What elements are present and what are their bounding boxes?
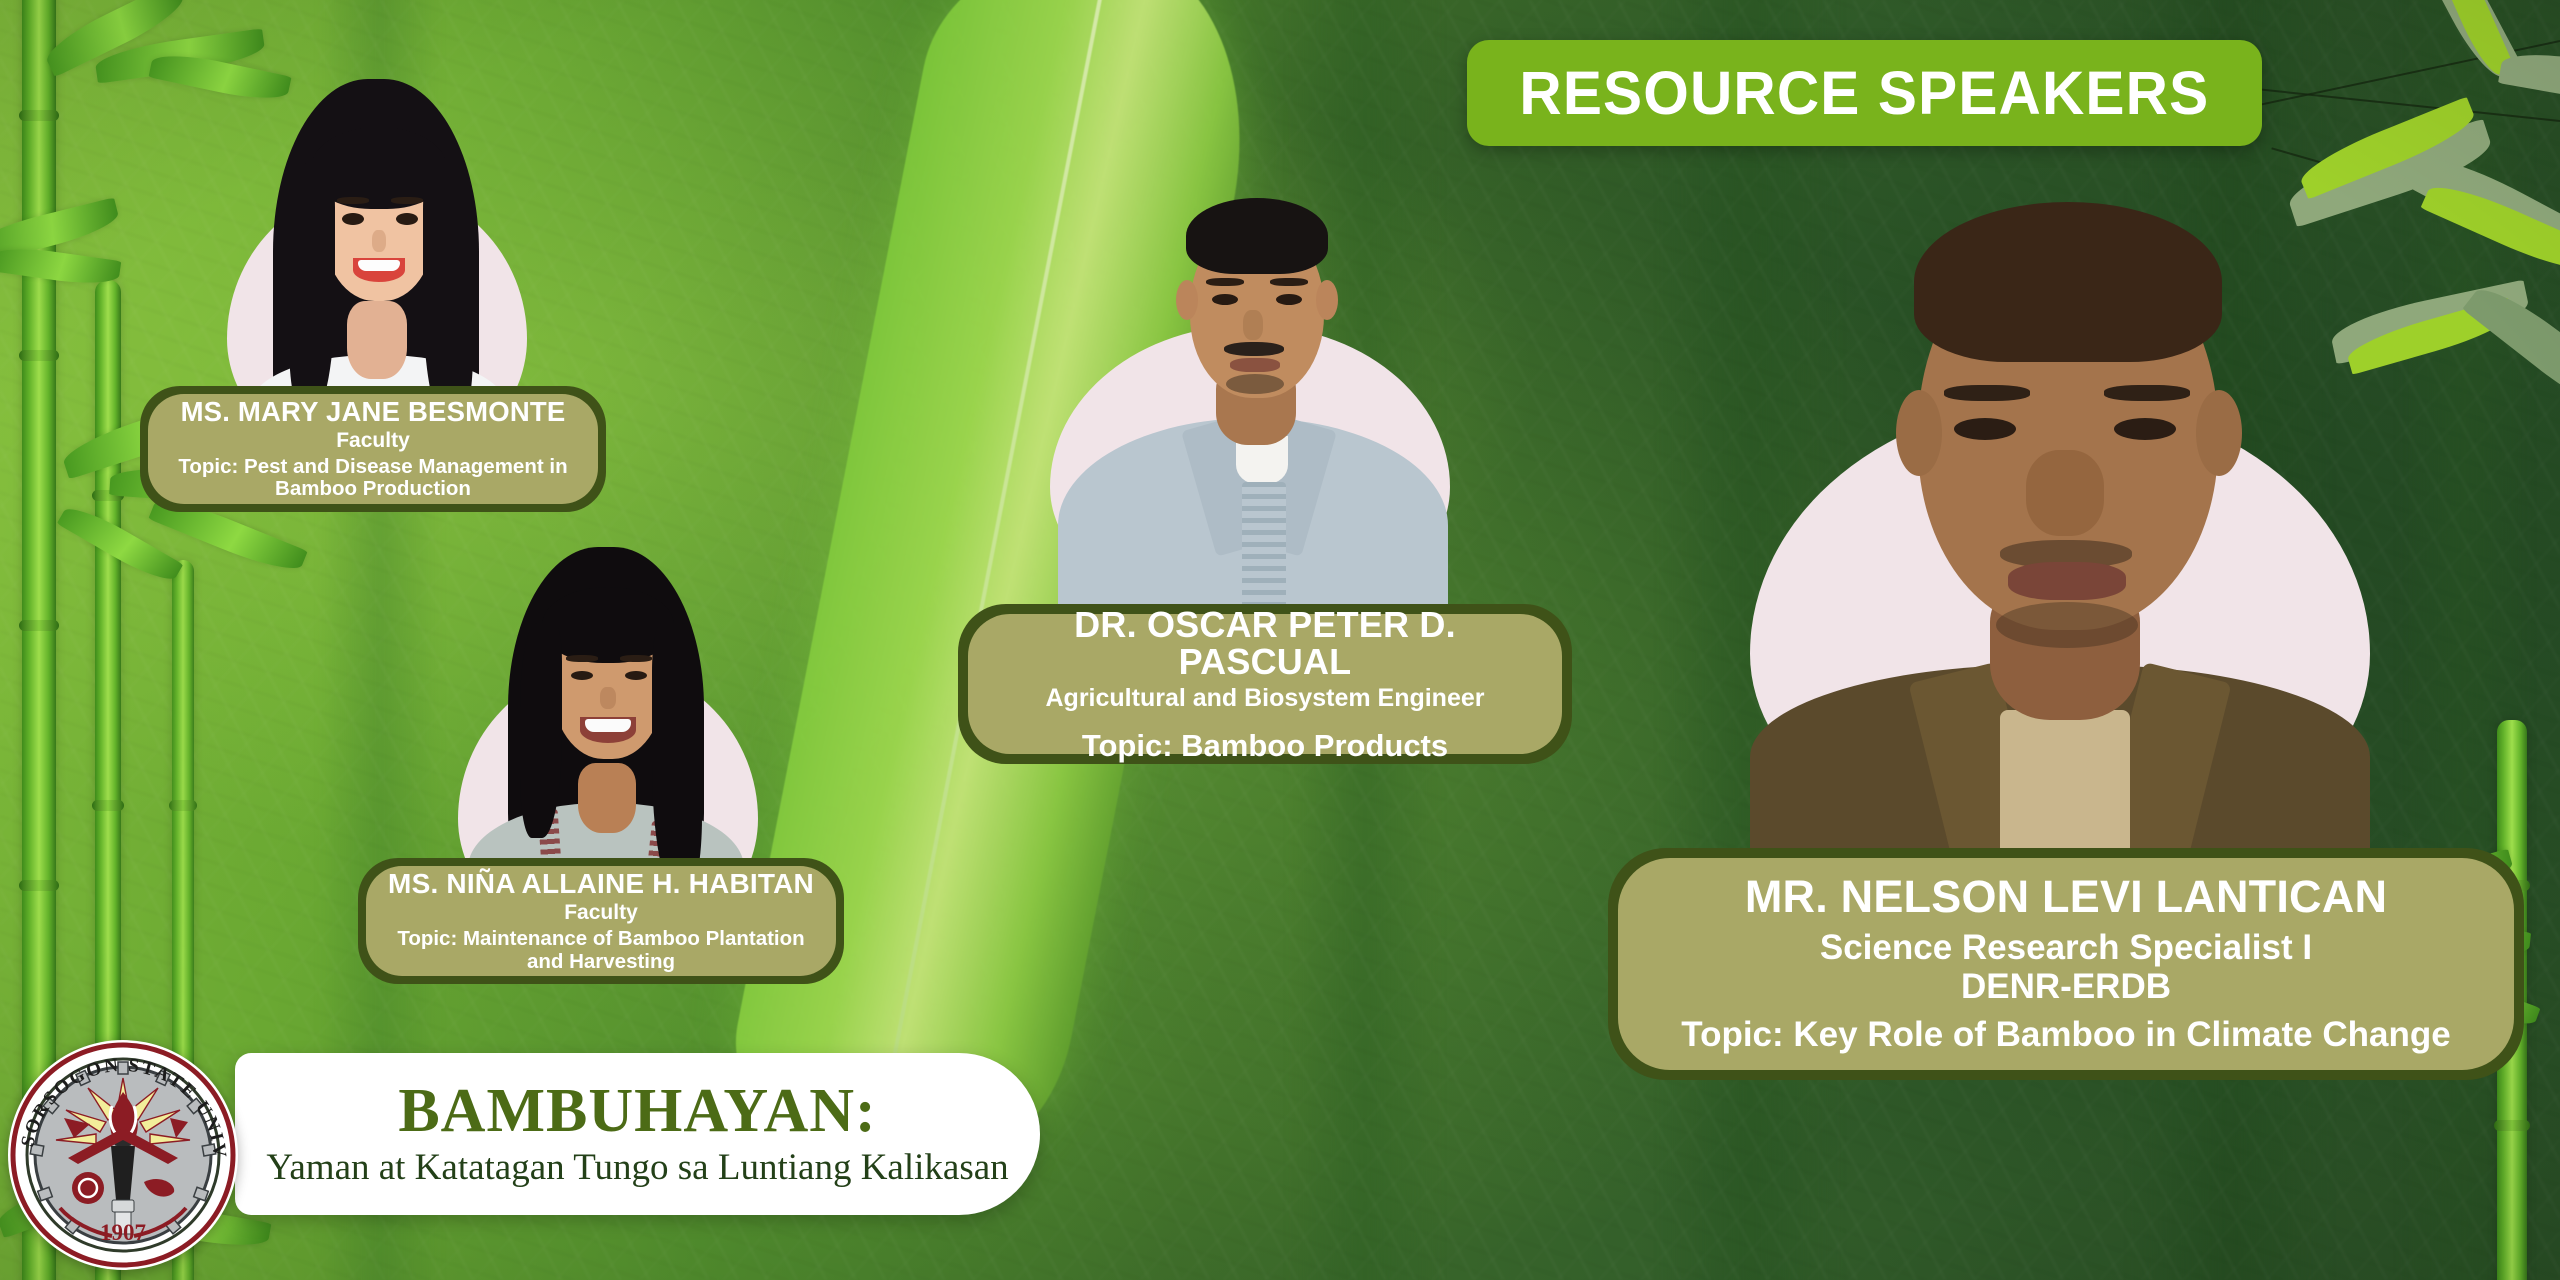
seal-year: 1907 — [100, 1220, 146, 1245]
speaker-card-besmonte: MS. MARY JANE BESMONTE Faculty Topic: Pe… — [148, 394, 598, 504]
speaker-name: MS. NIÑA ALLAINE H. HABITAN — [388, 869, 814, 898]
speaker-name: MS. MARY JANE BESMONTE — [181, 398, 566, 427]
inner-shirt — [2000, 710, 2130, 860]
event-subtitle: Yaman at Katatagan Tungo sa Luntiang Kal… — [266, 1148, 1008, 1189]
speaker-role: Faculty — [564, 901, 638, 924]
nose — [2026, 450, 2104, 536]
speaker-role: Science Research Specialist I — [1820, 929, 2312, 968]
speaker-topic-line1: Topic: Key Role of Bamboo in Climate Cha… — [1681, 1016, 2450, 1054]
hair — [1914, 202, 2222, 362]
neck — [578, 763, 636, 833]
speaker-card-pascual: DR. OSCAR PETER D. PASCUAL Agricultural … — [968, 614, 1562, 754]
ear — [1896, 390, 1942, 476]
nose — [372, 230, 386, 252]
hair — [1186, 198, 1328, 274]
eye — [1212, 294, 1238, 305]
speaker-topic-line1: Topic: Pest and Disease Management in — [178, 456, 567, 478]
eyebrow — [566, 655, 598, 662]
speaker-topic-line2: Bamboo Production — [275, 478, 471, 500]
eyebrow — [1944, 385, 2030, 401]
eye — [1954, 418, 2016, 440]
ear — [1176, 280, 1198, 320]
eyebrow — [620, 655, 652, 662]
speaker-role: Agricultural and Biosystem Engineer — [1046, 685, 1485, 713]
eye — [1276, 294, 1302, 305]
speaker-photo-lantican — [1700, 110, 2420, 850]
portrait-lantican — [1700, 110, 2420, 860]
eyebrow — [2104, 385, 2190, 401]
eye — [396, 213, 418, 225]
eyebrow — [1206, 278, 1244, 286]
seal-graphic: SORSOGON STATE UNIVERSITY 1907 — [8, 1040, 238, 1270]
teeth — [358, 260, 400, 271]
eye — [625, 671, 647, 680]
hair-side — [652, 623, 702, 893]
eyebrow — [391, 197, 423, 204]
university-seal: SORSOGON STATE UNIVERSITY 1907 — [8, 1040, 238, 1270]
speaker-role: Faculty — [336, 429, 410, 452]
speaker-affiliation: DENR-ERDB — [1961, 968, 2171, 1007]
chin-shadow — [1996, 602, 2138, 648]
nose — [1243, 310, 1263, 340]
eye — [571, 671, 593, 680]
speaker-name: MR. NELSON LEVI LANTICAN — [1745, 874, 2387, 921]
speaker-name: DR. OSCAR PETER D. PASCUAL — [984, 606, 1546, 681]
speaker-card-habitan: MS. NIÑA ALLAINE H. HABITAN Faculty Topi… — [366, 866, 836, 976]
mouth — [2008, 562, 2126, 600]
speaker-topic-line1: Topic: Maintenance of Bamboo Plantation — [397, 928, 804, 950]
mouth — [1230, 358, 1280, 372]
eye — [342, 213, 364, 225]
eyebrow — [337, 197, 369, 204]
ear — [2196, 390, 2242, 476]
ear — [1316, 280, 1338, 320]
speaker-topic-line1: Topic: Bamboo Products — [1082, 729, 1448, 762]
hair-side — [289, 163, 335, 413]
hair-side — [520, 623, 562, 838]
event-title: BAMBUHAYAN: — [398, 1080, 876, 1142]
event-title-bar: BAMBUHAYAN: Yaman at Katatagan Tungo sa … — [235, 1053, 1040, 1215]
mustache — [1224, 342, 1284, 356]
eye — [2114, 418, 2176, 440]
poster-canvas: RESOURCE SPEAKERS — [0, 0, 2560, 1280]
portrait-pascual — [1020, 160, 1480, 630]
chin-beard — [1226, 374, 1284, 394]
nose — [600, 687, 616, 709]
neck — [347, 301, 407, 379]
eyebrow — [1270, 278, 1308, 286]
speaker-card-lantican: MR. NELSON LEVI LANTICAN Science Researc… — [1618, 858, 2514, 1070]
teeth — [585, 719, 631, 732]
speaker-topic-line2: and Harvesting — [527, 951, 675, 973]
speaker-photo-pascual — [1020, 160, 1480, 620]
